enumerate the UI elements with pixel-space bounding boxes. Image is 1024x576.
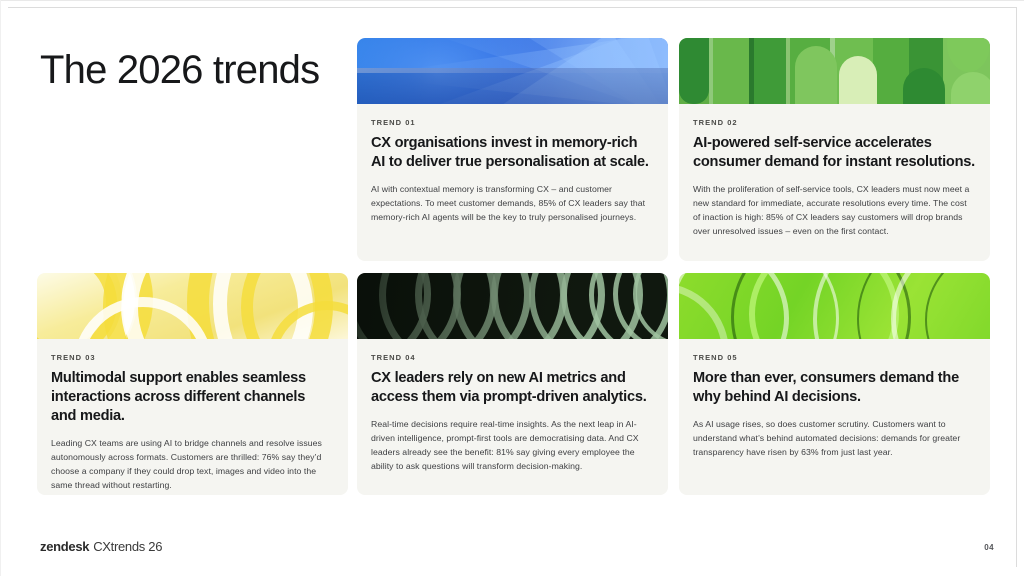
trend-card-01-artwork [357,38,668,104]
trend-card-03-label: TREND 03 [51,353,334,362]
trend-card-03[interactable]: TREND 03 Multimodal support enables seam… [37,273,348,495]
trend-card-01-label: TREND 01 [371,118,654,127]
trend-card-04-label: TREND 04 [371,353,654,362]
trend-card-01[interactable]: TREND 01 CX organisations invest in memo… [357,38,668,261]
footer-brand-logo: zendeskCXtrends 26 [40,539,162,554]
trend-card-05-title: More than ever, consumers demand the why… [693,369,976,407]
trend-card-03-body: TREND 03 Multimodal support enables seam… [37,339,348,495]
trend-card-02-artwork [679,38,990,104]
trend-card-03-artwork [37,273,348,339]
trend-card-04-artwork [357,273,668,339]
trend-card-05[interactable]: TREND 05 More than ever, consumers deman… [679,273,990,495]
trend-card-01-title: CX organisations invest in memory-rich A… [371,134,654,172]
slide-canvas: The 2026 trends TREND 01 CX organisation… [0,0,1024,576]
trend-card-05-artwork [679,273,990,339]
trend-card-01-description: AI with contextual memory is transformin… [371,182,654,224]
slide-frame-left-outer [0,0,1,576]
slide-frame-top-outer [0,0,1024,1]
slide-frame-top [8,7,1017,8]
trend-card-02-title: AI-powered self-service accelerates cons… [693,134,976,172]
trend-card-04-body: TREND 04 CX leaders rely on new AI metri… [357,339,668,489]
page-number: 04 [984,543,994,552]
trend-card-02-description: With the proliferation of self-service t… [693,182,976,238]
trend-card-05-body: TREND 05 More than ever, consumers deman… [679,339,990,475]
trend-card-03-description: Leading CX teams are using AI to bridge … [51,436,334,492]
trend-card-04-description: Real-time decisions require real-time in… [371,417,654,473]
trend-card-01-body: TREND 01 CX organisations invest in memo… [357,104,668,240]
trend-card-05-description: As AI usage rises, so does customer scru… [693,417,976,459]
trend-card-05-label: TREND 05 [693,353,976,362]
trend-card-04[interactable]: TREND 04 CX leaders rely on new AI metri… [357,273,668,495]
cxtrends-wordmark: CXtrends 26 [93,539,162,554]
zendesk-wordmark: zendesk [40,539,89,554]
trend-card-04-title: CX leaders rely on new AI metrics and ac… [371,369,654,407]
trend-card-02[interactable]: TREND 02 AI-powered self-service acceler… [679,38,990,261]
trend-card-02-label: TREND 02 [693,118,976,127]
page-title: The 2026 trends [40,45,340,96]
slide-frame-right [1016,7,1017,567]
trend-card-03-title: Multimodal support enables seamless inte… [51,369,334,426]
trend-card-02-body: TREND 02 AI-powered self-service acceler… [679,104,990,254]
